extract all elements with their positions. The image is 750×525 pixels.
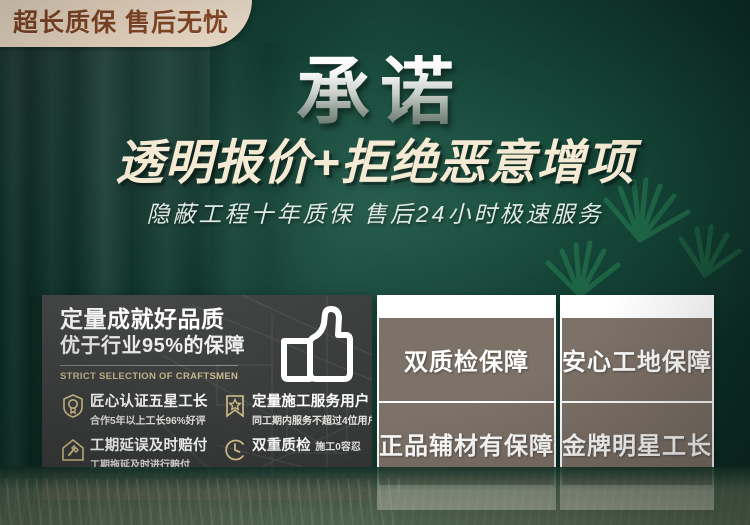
- feature-item: 定量施工服务用户 同工期内服务不超过4位用户: [224, 393, 372, 429]
- hero-block: 承诺 透明报价+拒绝恶意增项 隐蔽工程十年质保 售后24小时极速服务: [0, 55, 750, 229]
- guarantee-panel: 双质检保障 正品辅材有保障 安心工地保障 金牌明星工长: [377, 295, 708, 510]
- feature-item: 工期延误及时赔付 工期拖延及时进行赔付: [62, 437, 224, 473]
- feature-desc: 工期拖延及时进行赔付: [90, 460, 190, 471]
- house-hammer-icon: [62, 438, 84, 467]
- guarantee-label: 金牌明星工长: [562, 426, 712, 461]
- feature-title: 工期延误及时赔付: [90, 438, 208, 454]
- guarantee-cell[interactable]: 正品辅材有保障: [379, 403, 554, 488]
- clock-icon: [224, 438, 246, 467]
- marble-strip-top: [560, 295, 714, 318]
- feature-desc: 施工0容忍: [315, 442, 361, 453]
- divider: [60, 365, 238, 366]
- feature-desc: 合作5年以上工长96%好评: [90, 416, 206, 427]
- thumbs-up-icon: [276, 305, 354, 385]
- hero-note: 隐蔽工程十年质保 售后24小时极速服务: [0, 195, 750, 229]
- marble-strip-bottom: [560, 487, 714, 510]
- ribbon-text: 超长质保 售后无忧: [0, 11, 229, 36]
- guarantee-cell[interactable]: 双质检保障: [379, 318, 554, 403]
- guarantee-cell[interactable]: 金牌明星工长: [562, 403, 712, 488]
- feature-grid: 匠心认证五星工长 合作5年以上工长96%好评 定量施工服务用户 同工期内服务不超…: [60, 393, 372, 473]
- guarantee-label: 正品辅材有保障: [379, 426, 554, 461]
- feature-title: 定量施工服务用户: [252, 394, 370, 410]
- guarantee-column-right: 安心工地保障 金牌明星工长: [560, 295, 714, 510]
- feature-desc: 同工期内服务不超过4位用户: [252, 416, 372, 427]
- feature-title: 双重质检: [252, 438, 311, 454]
- guarantee-column-left: 双质检保障 正品辅材有保障: [377, 295, 556, 510]
- guarantee-label: 双质检保障: [404, 342, 529, 377]
- marble-strip-bottom: [377, 487, 556, 510]
- guarantee-cell[interactable]: 安心工地保障: [562, 318, 712, 403]
- top-ribbon: 超长质保 售后无忧: [0, 0, 252, 47]
- promo-banner: 超长质保 售后无忧 承诺 透明报价+拒绝恶意增项 隐蔽工程十年质保 售后24小时…: [0, 0, 750, 525]
- feature-item: 匠心认证五星工长 合作5年以上工长96%好评: [62, 393, 224, 429]
- marble-strip-top: [377, 295, 556, 318]
- hero-headline: 透明报价+拒绝恶意增项: [0, 139, 750, 189]
- page-title: 承诺: [0, 55, 750, 129]
- medal-badge-icon: [62, 394, 84, 423]
- star-bookmark-icon: [224, 394, 246, 423]
- feature-title: 匠心认证五星工长: [90, 394, 208, 410]
- guarantee-label: 安心工地保障: [562, 342, 712, 377]
- quality-card: 定量成就好品质 优于行业95%的保障 STRICT SELECTION OF C…: [42, 295, 372, 500]
- feature-item: 双重质检 施工0容忍: [224, 437, 372, 473]
